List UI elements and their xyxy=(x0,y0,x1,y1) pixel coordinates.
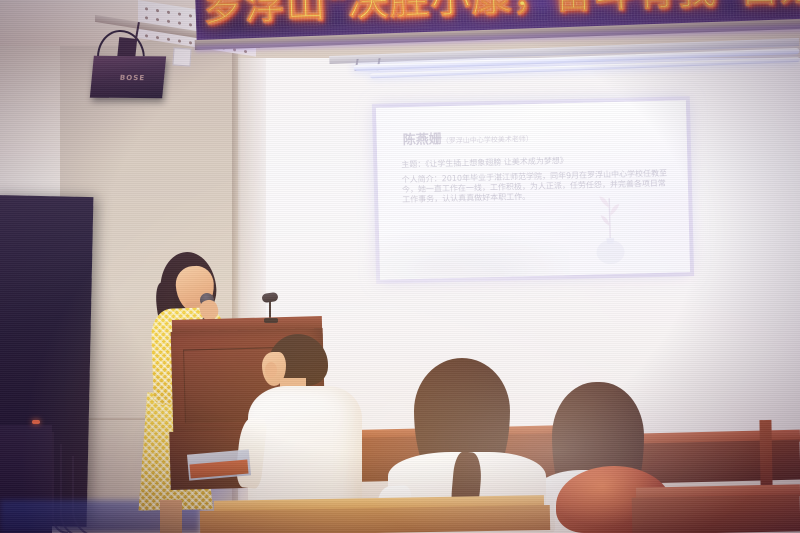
wall-speaker: BOSE xyxy=(90,56,166,98)
vase-flowers-icon xyxy=(586,194,634,267)
auditorium-photo: BOSE 罗浮山"决胜小康，奋斗有我"百姓故事宣讲会 陈燕姗（罗浮山中心学校美术… xyxy=(0,0,800,533)
perforation-dot xyxy=(189,23,192,26)
perforation-dot xyxy=(156,18,159,21)
slide-title-name: 陈燕姗 xyxy=(403,132,442,148)
power-led-icon xyxy=(32,420,40,424)
wall-outlet xyxy=(172,47,191,66)
perforation-dot xyxy=(189,41,192,44)
perforation-dot xyxy=(145,7,148,10)
perforation-dot xyxy=(167,11,170,14)
slide-title: 陈燕姗（罗浮山中心学校美术老师） xyxy=(402,126,532,148)
presenter-leg xyxy=(160,500,182,533)
perforation-dot xyxy=(156,9,159,12)
perforation-dot xyxy=(178,12,181,15)
projection-screen: 陈燕姗（罗浮山中心学校美术老师） 主题：《让学生插上想象翅膀 让美术成为梦想》 … xyxy=(376,100,690,280)
bench-desk-body xyxy=(632,494,800,533)
front-bench-body xyxy=(200,505,550,533)
slide-bullet-topic: 主题：《让学生插上想象翅膀 让美术成为梦想》 xyxy=(401,155,568,170)
perforation-dot xyxy=(178,21,181,24)
speaker-brand-label: BOSE xyxy=(119,74,145,82)
gooseneck-mic-base xyxy=(264,318,278,323)
perforation-dot xyxy=(145,34,148,37)
perforation-dot xyxy=(178,39,181,42)
perforation-dot xyxy=(167,38,170,41)
perforation-dot xyxy=(189,14,192,17)
bench-desk-leg xyxy=(759,420,772,486)
perforation-dot xyxy=(156,36,159,39)
slide-title-role: （罗浮山中心学校美术老师） xyxy=(442,135,533,145)
perforation-dot xyxy=(167,20,170,23)
audience-1-ear xyxy=(265,362,277,378)
ink-wash-decoration xyxy=(379,221,570,280)
perforation-dot xyxy=(145,16,148,19)
slide-content: 陈燕姗（罗浮山中心学校美术老师） 主题：《让学生插上想象翅膀 让美术成为梦想》 … xyxy=(376,100,690,280)
